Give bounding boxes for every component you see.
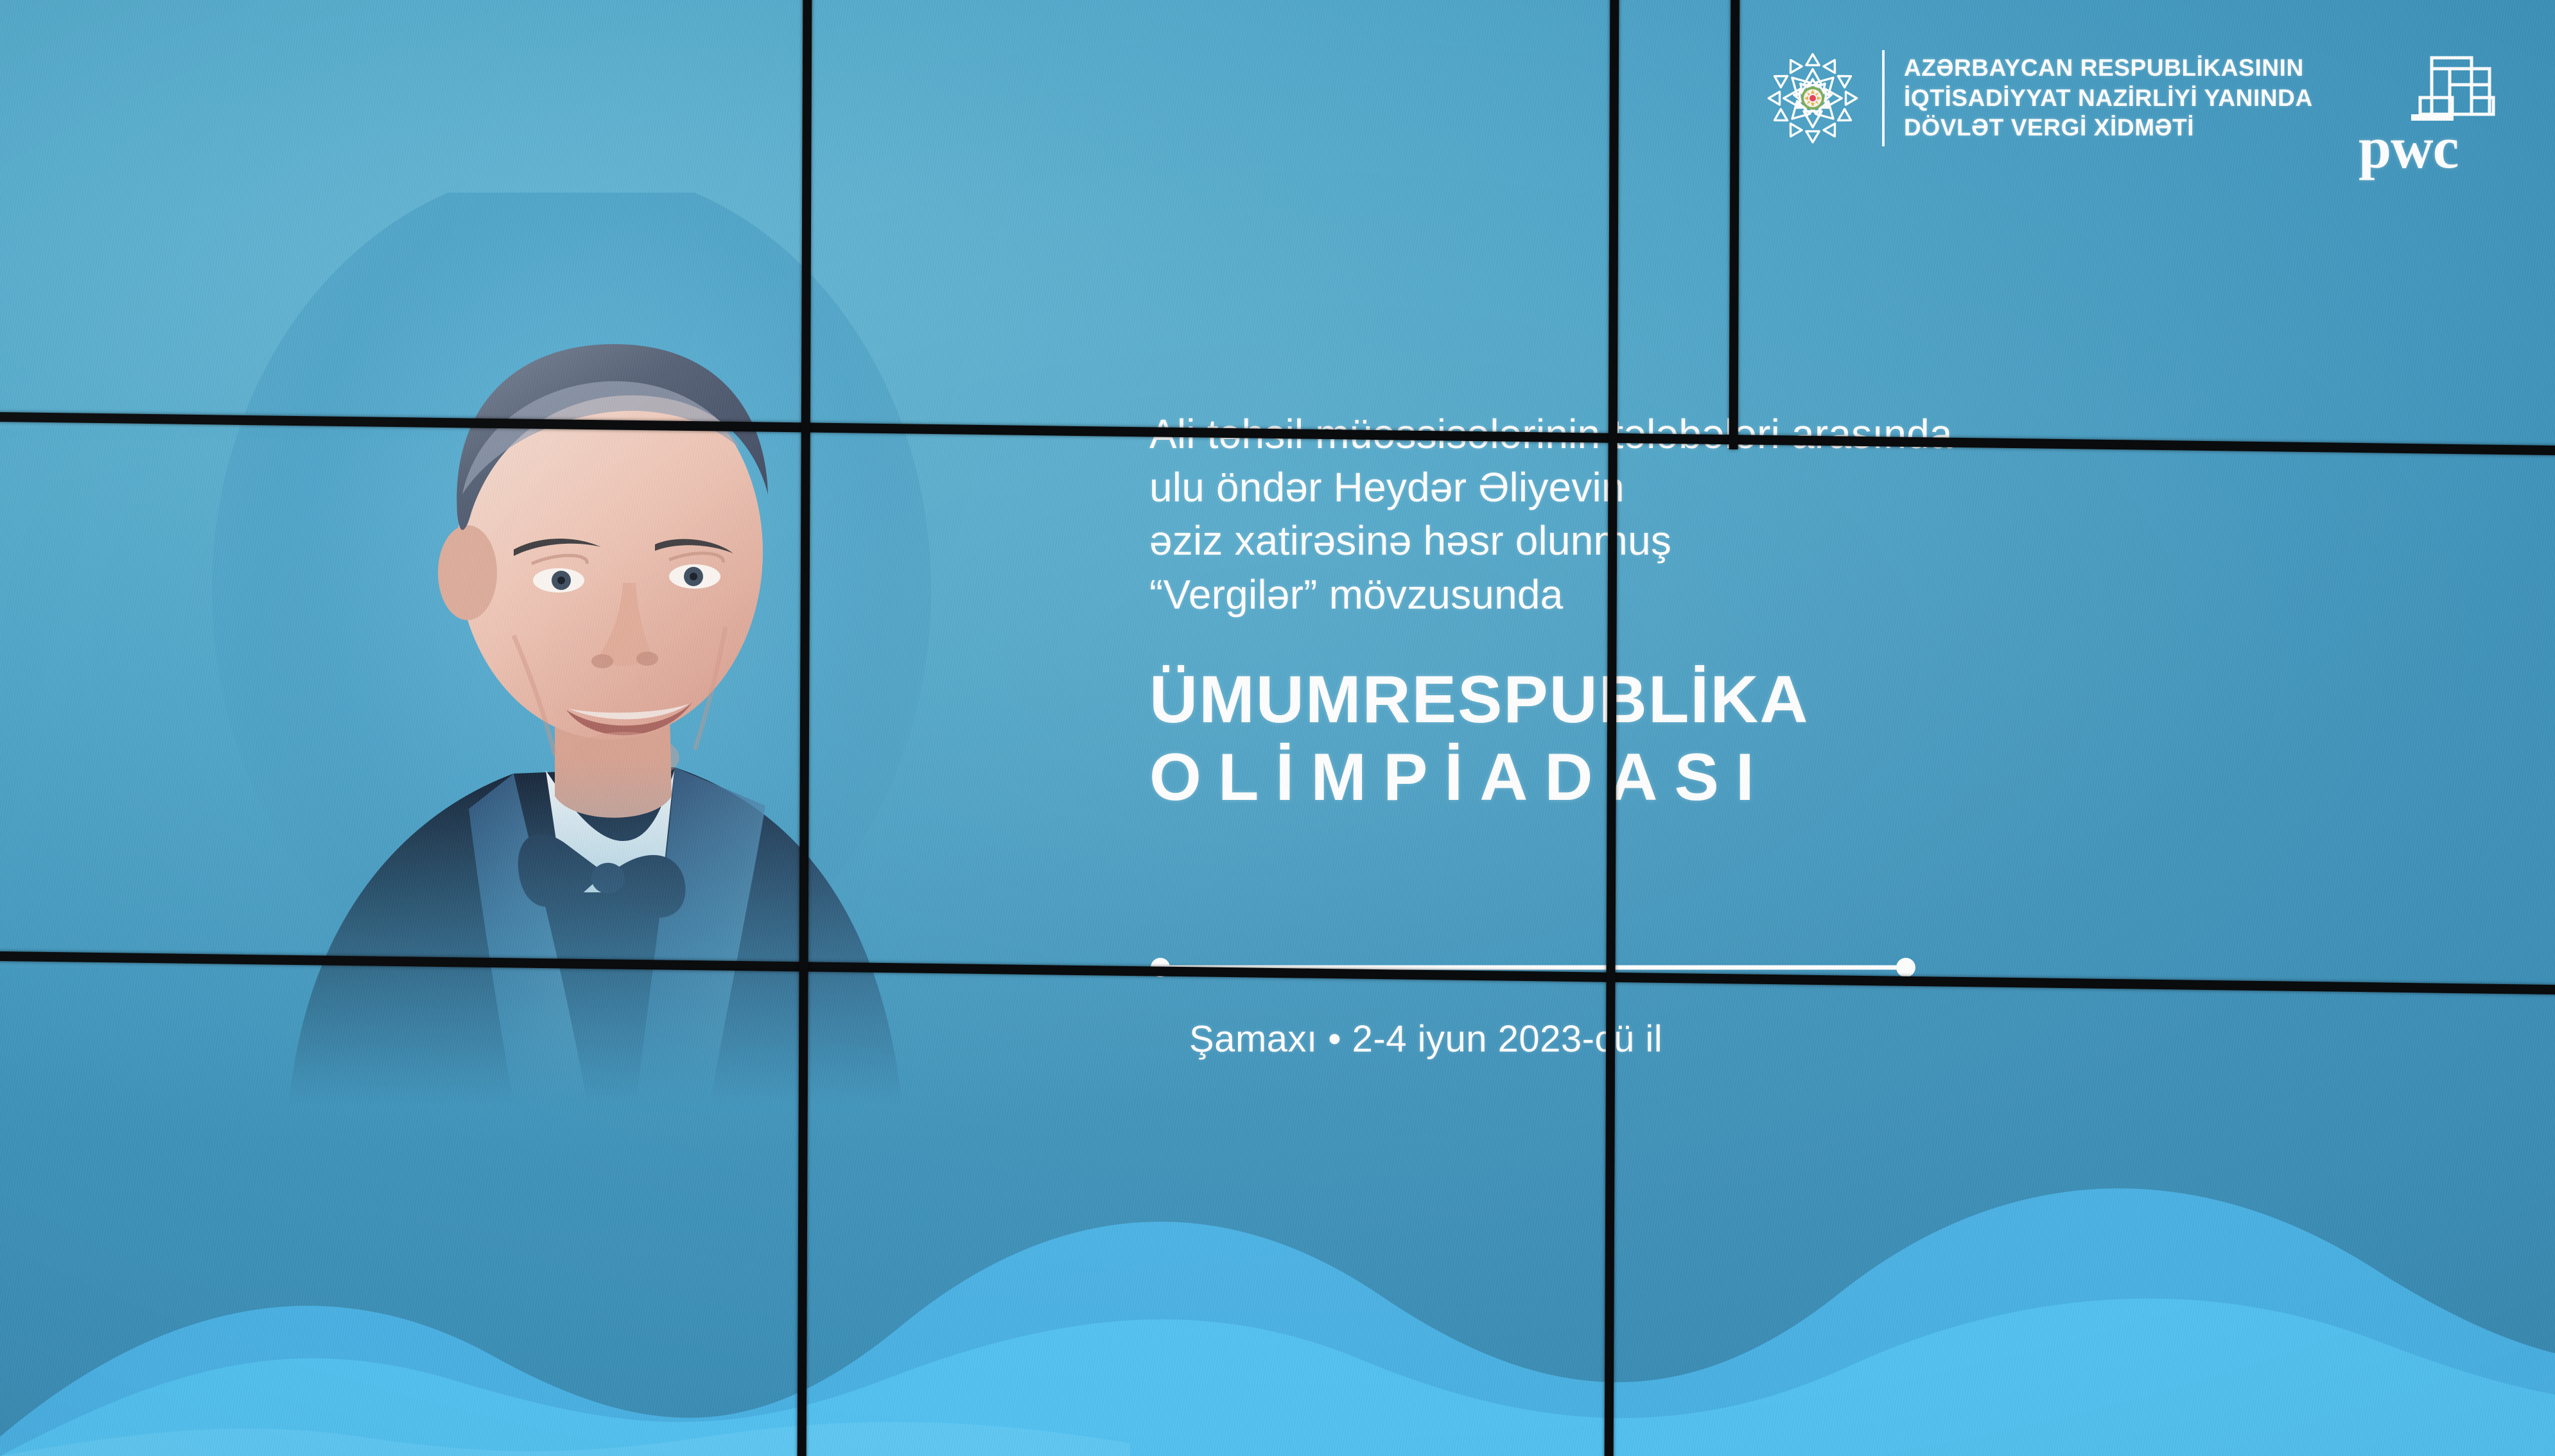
lede-line-3: əziz xatirəsinə həsr olunmuş (1149, 514, 2177, 568)
lede-line-1: Ali təhsil müəssisələrinin tələbələri ar… (1149, 408, 2177, 461)
pwc-wordmark: pwc (2359, 121, 2527, 175)
pwc-logo-block: pwc (2341, 51, 2527, 175)
event-headline: ÜMUMRESPUBLİKA OLİMPİADASI (1149, 663, 2177, 819)
gov-logo-text: AZƏRBAYCAN RESPUBLİKASININ İQTİSADİYYAT … (1904, 53, 2313, 143)
gov-logo-line-3: DÖVLƏT VERGİ XİDMƏTİ (1904, 113, 2313, 143)
portrait-heydar-aliyev (212, 193, 970, 1104)
lede-line-4: “Vergilər” mövzusunda (1149, 568, 2177, 621)
videowall-photo: AZƏRBAYCAN RESPUBLİKASININ İQTİSADİYYAT … (0, 0, 2555, 1456)
venue-and-date: Şamaxı • 2-4 iyun 2023-cü il (1189, 1018, 1662, 1061)
dotted-rule-divider (1149, 957, 1917, 978)
headline-line-2: OLİMPİADASI (1149, 737, 2177, 819)
lede-line-2: ulu öndər Heydər Əliyevin (1149, 461, 2177, 514)
azerbaijan-tax-service-emblem-icon (1763, 48, 1863, 148)
logo-divider-rule (1882, 50, 1885, 146)
slide-artwork: AZƏRBAYCAN RESPUBLİKASININ İQTİSADİYYAT … (0, 0, 2555, 1456)
gov-logo-block: AZƏRBAYCAN RESPUBLİKASININ İQTİSADİYYAT … (1763, 48, 2313, 148)
gov-logo-line-2: İQTİSADİYYAT NAZİRLİYİ YANINDA (1904, 83, 2313, 114)
headline-line-1: ÜMUMRESPUBLİKA (1149, 663, 2177, 737)
gov-logo-line-1: AZƏRBAYCAN RESPUBLİKASININ (1904, 53, 2313, 83)
lede-paragraph: Ali təhsil müəssisələrinin tələbələri ar… (1149, 408, 2177, 621)
pwc-stacked-blocks-icon (2411, 51, 2507, 125)
slide-copy: Ali təhsil müəssisələrinin tələbələri ar… (1149, 408, 2177, 819)
